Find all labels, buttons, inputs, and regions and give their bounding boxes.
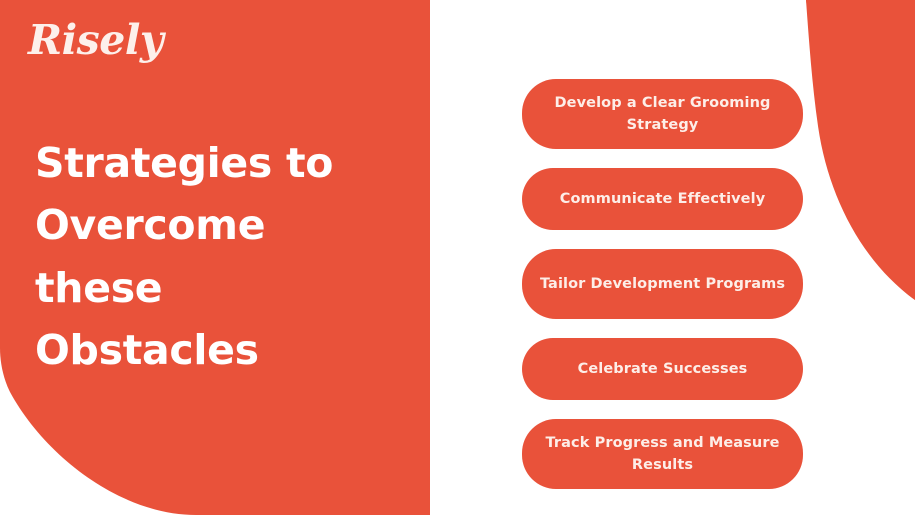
headline-line-4: Obstacles [35, 319, 385, 381]
strategy-pill[interactable]: Develop a Clear Grooming Strategy [522, 79, 803, 149]
slide-canvas: Risely Strategies to Overcome these Obst… [0, 0, 915, 515]
strategy-pill[interactable]: Communicate Effectively [522, 168, 803, 230]
right-orange-arc-upper [806, 0, 915, 300]
strategy-pill-label: Track Progress and Measure Results [538, 432, 787, 477]
strategy-pill-label: Communicate Effectively [560, 188, 766, 210]
strategy-pill-label: Tailor Development Programs [540, 273, 785, 295]
strategy-pill[interactable]: Tailor Development Programs [522, 249, 803, 319]
page-title: Strategies to Overcome these Obstacles [35, 132, 385, 381]
headline-line-1: Strategies to [35, 132, 385, 194]
strategy-pill-list: Develop a Clear Grooming Strategy Commun… [522, 79, 803, 489]
headline-line-2: Overcome [35, 194, 385, 256]
strategy-pill-label: Develop a Clear Grooming Strategy [538, 92, 787, 137]
headline-line-3: these [35, 257, 385, 319]
strategy-pill[interactable]: Celebrate Successes [522, 338, 803, 400]
strategy-pill-label: Celebrate Successes [578, 358, 748, 380]
risely-logo[interactable]: Risely [28, 20, 163, 61]
strategy-pill[interactable]: Track Progress and Measure Results [522, 419, 803, 489]
